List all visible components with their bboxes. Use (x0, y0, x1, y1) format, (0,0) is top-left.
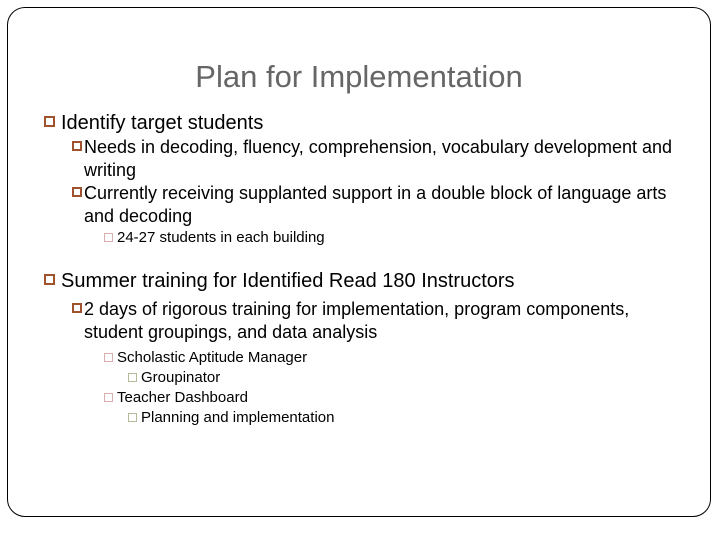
list-item-label: Needs in decoding, fluency, comprehensio… (84, 136, 692, 182)
list-item-label: Teacher Dashboard (117, 388, 692, 408)
list-item-label: Scholastic Aptitude Manager (117, 348, 692, 368)
square-bullet-icon (104, 233, 113, 242)
list-item-label: 24-27 students in each building (117, 228, 692, 248)
list-item-label: Summer training for Identified Read 180 … (61, 268, 692, 294)
square-bullet-icon (44, 274, 55, 285)
square-bullet-icon (104, 353, 113, 362)
slide-body: Identify target students Needs in decodi… (44, 110, 692, 428)
square-bullet-icon (72, 141, 82, 151)
list-item[interactable]: Identify target students (44, 110, 692, 136)
list-item-label: 2 days of rigorous training for implemen… (84, 298, 692, 344)
list-item-label: Planning and implementation (141, 408, 692, 428)
square-bullet-icon (72, 187, 82, 197)
square-bullet-icon (72, 303, 82, 313)
list-item-label: Identify target students (61, 110, 692, 136)
square-bullet-icon (128, 373, 137, 382)
slide-frame: Plan for Implementation Identify target … (7, 7, 711, 517)
list-item[interactable]: Scholastic Aptitude Manager (104, 348, 692, 368)
list-item[interactable]: Teacher Dashboard (104, 388, 692, 408)
list-item[interactable]: Needs in decoding, fluency, comprehensio… (72, 136, 692, 182)
list-item[interactable]: Summer training for Identified Read 180 … (44, 268, 692, 294)
list-item[interactable]: Currently receiving supplanted support i… (72, 182, 692, 228)
page-title: Plan for Implementation (8, 58, 710, 96)
square-bullet-icon (44, 116, 55, 127)
section-spacer (44, 248, 692, 268)
list-item[interactable]: Groupinator (128, 368, 692, 388)
list-item[interactable]: 24-27 students in each building (104, 228, 692, 248)
square-bullet-icon (128, 413, 137, 422)
list-item[interactable]: 2 days of rigorous training for implemen… (72, 298, 692, 344)
list-item-label: Currently receiving supplanted support i… (84, 182, 692, 228)
list-item-label: Groupinator (141, 368, 692, 388)
list-item[interactable]: Planning and implementation (128, 408, 692, 428)
square-bullet-icon (104, 393, 113, 402)
